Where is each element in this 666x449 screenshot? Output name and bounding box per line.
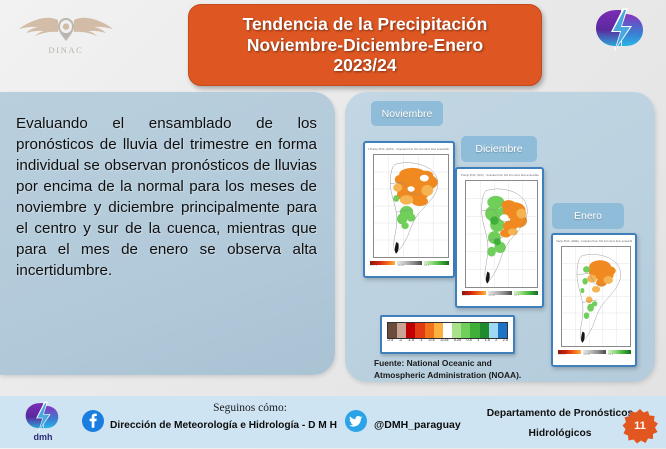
colorbar-tick-6: 0.25 [454, 338, 461, 342]
map-caption: CMC1 Precip Prob. (NOV) - forecast from … [368, 146, 450, 153]
source-note: Fuente: National Oceanic and Atmospheric… [374, 357, 604, 381]
cloud-lightning-icon [20, 399, 66, 435]
month-badge-noviembre: Noviembre [371, 101, 443, 126]
map-inner: CMC1 Precip Prob. (ENE) - forecast from … [553, 235, 635, 365]
dinac-logo: DINAC [14, 8, 118, 60]
colorbar-tick-10: 2 [495, 338, 497, 342]
colorbar-swatch-1 [397, 323, 406, 338]
dinac-label: DINAC [49, 45, 84, 55]
colorbar-tick-3: -1 [419, 338, 422, 342]
slide-title: Tendencia de la Precipitación Noviembre-… [188, 4, 542, 86]
colorbar-legend: -2.5-2-1.5-1-0.5-0.250.250.511.522.5 [380, 315, 515, 354]
map-card-diciembre[interactable]: CMC1 Precip Prob. (DIC) - forecast from … [455, 167, 544, 308]
colorbar-swatches [387, 322, 508, 339]
facebook-icon[interactable] [82, 410, 104, 432]
map-mini-legend: -2 -1 -.5 -.25 .25 .5 1 2 [462, 291, 538, 304]
month-badge-label: Enero [574, 210, 602, 222]
map-plot-enero [561, 246, 631, 347]
month-badge-enero: Enero [552, 203, 624, 229]
map-plot-diciembre [465, 180, 538, 288]
colorbar-tick-0: -2.5 [387, 338, 393, 342]
colorbar-swatch-2 [406, 323, 415, 338]
colorbar-swatch-0 [388, 323, 397, 338]
colorbar-swatch-10 [480, 323, 489, 338]
source-line-2: Atmospheric Administration (NOAA). [374, 369, 604, 381]
colorbar-swatch-4 [425, 323, 434, 338]
colorbar-swatch-11 [489, 323, 498, 338]
month-badge-label: Noviembre [382, 108, 433, 120]
slide-root: DINAC Tendencia de la Precipitación Novi [0, 0, 666, 448]
south-america-anomaly-map [466, 181, 537, 287]
map-caption: CMC1 Precip Prob. (DIC) - forecast from … [460, 172, 539, 179]
colorbar-swatch-12 [498, 323, 507, 338]
map-card-enero[interactable]: CMC1 Precip Prob. (ENE) - forecast from … [551, 233, 637, 367]
map-plot-noviembre [373, 154, 449, 258]
title-line-2: Noviembre-Diciembre-Enero [247, 35, 483, 56]
colorbar-tick-5: -0.25 [440, 338, 448, 342]
dmh-logo-top [590, 4, 652, 56]
month-badge-label: Diciembre [475, 143, 522, 155]
colorbar-swatch-9 [470, 323, 479, 338]
page-number-badge: 11 [622, 408, 658, 444]
twitter-handle[interactable]: @DMH_paraguay [374, 419, 461, 431]
colorbar-tick-9: 1.5 [485, 338, 490, 342]
cloud-lightning-icon [590, 4, 652, 56]
colorbar-swatch-3 [415, 323, 424, 338]
map-inner: CMC1 Precip Prob. (DIC) - forecast from … [457, 169, 542, 306]
map-mini-legend: -2 -1 -.5 -.25 .25 .5 1 2 [370, 261, 449, 274]
colorbar-tick-2: -1.5 [408, 338, 414, 342]
colorbar-tick-8: 1 [477, 338, 479, 342]
title-line-1: Tendencia de la Precipitación [243, 14, 488, 35]
map-card-noviembre[interactable]: CMC1 Precip Prob. (NOV) - forecast from … [363, 141, 455, 278]
summary-text-panel: Evaluando el ensamblado de los pronóstic… [0, 92, 335, 375]
seguinos-label: Seguinos cómo: [150, 402, 350, 414]
map-caption: CMC1 Precip Prob. (ENE) - forecast from … [556, 238, 632, 245]
colorbar-tick-1: -2 [399, 338, 402, 342]
south-america-anomaly-map [562, 247, 630, 346]
page-number: 11 [622, 408, 658, 444]
colorbar-swatch-7 [452, 323, 461, 338]
dmh-label: dmh [34, 432, 53, 442]
colorbar-swatch-8 [461, 323, 470, 338]
south-america-anomaly-map [374, 155, 448, 257]
colorbar-tick-4: -0.5 [428, 338, 434, 342]
summary-text: Evaluando el ensamblado de los pronóstic… [0, 92, 335, 282]
dmh-logo-footer: dmh [14, 399, 72, 447]
footer-bar: dmh Seguinos cómo: Dirección de Meteorol… [0, 396, 666, 448]
dinac-wings-icon [18, 13, 114, 47]
colorbar-swatch-5 [434, 323, 443, 338]
map-inner: CMC1 Precip Prob. (NOV) - forecast from … [365, 143, 453, 276]
title-line-3: 2023/24 [333, 55, 396, 76]
colorbar-tick-labels: -2.5-2-1.5-1-0.5-0.250.250.511.522.5 [387, 338, 508, 342]
colorbar-tick-7: 0.5 [467, 338, 472, 342]
month-badge-diciembre: Diciembre [461, 136, 537, 162]
source-line-1: Fuente: National Oceanic and [374, 357, 604, 369]
colorbar-swatch-6 [443, 323, 452, 338]
facebook-handle[interactable]: Dirección de Meteorología e Hidrología -… [110, 420, 337, 431]
colorbar-tick-11: 2.5 [503, 338, 508, 342]
twitter-icon[interactable] [345, 410, 367, 432]
